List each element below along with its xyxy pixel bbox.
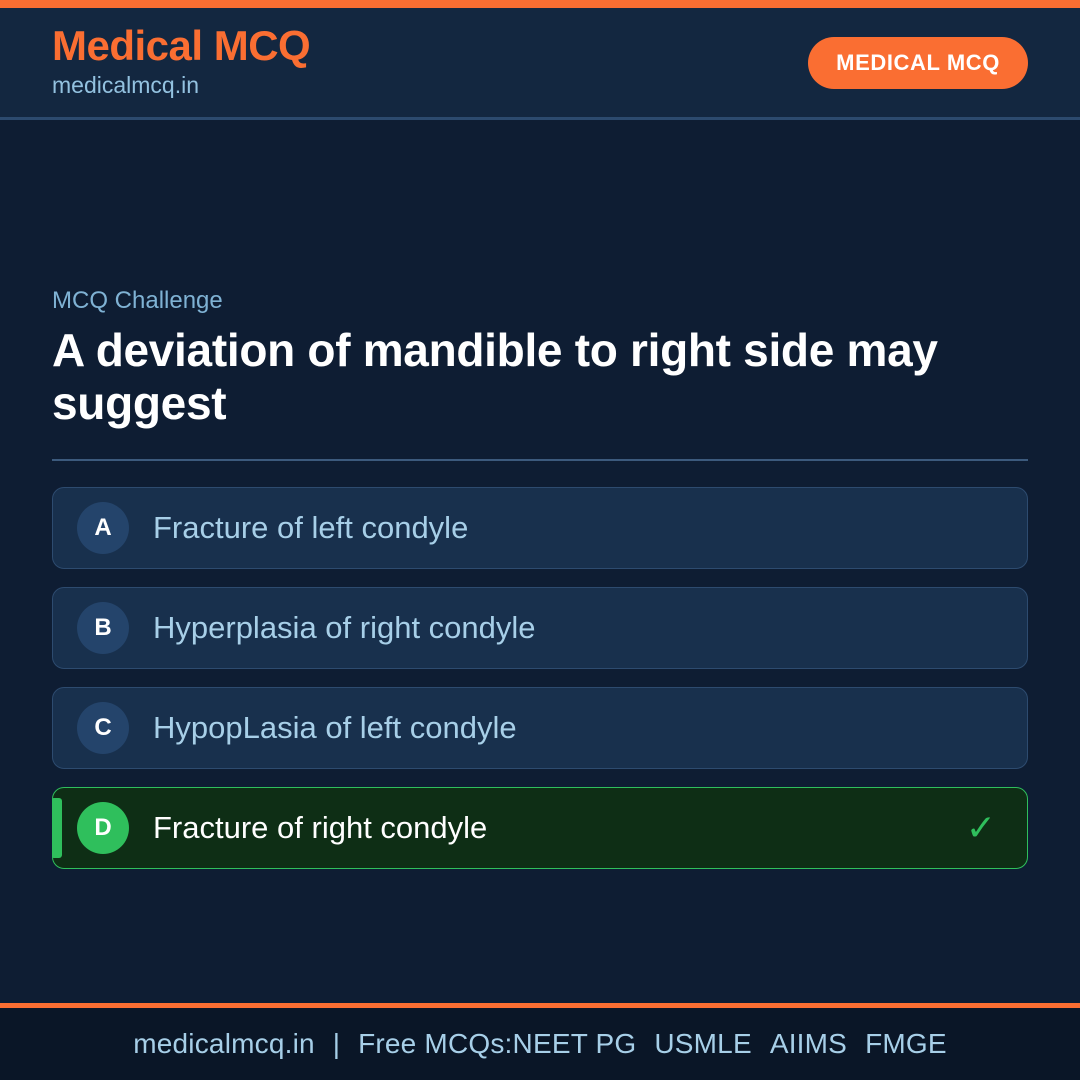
question-block: MCQ Challenge A deviation of mandible to… xyxy=(52,285,1028,429)
brand-block: Medical MCQ medicalmcq.in xyxy=(52,24,310,101)
main-content: MCQ Challenge A deviation of mandible to… xyxy=(0,120,1080,1003)
top-accent-bar xyxy=(0,0,1080,8)
question-divider xyxy=(52,459,1028,461)
footer-exam-item[interactable]: AIIMS xyxy=(770,1028,847,1060)
page-header: Medical MCQ medicalmcq.in MEDICAL MCQ xyxy=(0,8,1080,120)
check-icon: ✓ xyxy=(961,810,1001,846)
option-d[interactable]: DFracture of right condyle✓ xyxy=(52,787,1028,869)
option-c[interactable]: CHypopLasia of left condyle xyxy=(52,687,1028,769)
option-label: Fracture of right condyle xyxy=(153,809,961,846)
option-letter-badge: A xyxy=(77,502,129,554)
page-footer: medicalmcq.in | Free MCQs: NEET PGUSMLEA… xyxy=(0,1008,1080,1080)
options-list: AFracture of left condyleBHyperplasia of… xyxy=(52,487,1028,869)
footer-label: Free MCQs: xyxy=(358,1028,512,1060)
header-badge: MEDICAL MCQ xyxy=(808,37,1028,89)
footer-exam-item[interactable]: NEET PG xyxy=(513,1028,637,1060)
correct-accent-bar xyxy=(53,798,62,858)
option-letter-badge: C xyxy=(77,702,129,754)
option-b[interactable]: BHyperplasia of right condyle xyxy=(52,587,1028,669)
mcq-card: Medical MCQ medicalmcq.in MEDICAL MCQ MC… xyxy=(0,0,1080,1080)
option-letter-badge: B xyxy=(77,602,129,654)
option-label: Fracture of left condyle xyxy=(153,509,961,546)
brand-subtitle: medicalmcq.in xyxy=(52,70,310,101)
footer-exam-item[interactable]: USMLE xyxy=(654,1028,751,1060)
brand-title: Medical MCQ xyxy=(52,24,310,68)
option-label: HypopLasia of left condyle xyxy=(153,709,961,746)
footer-exam-item[interactable]: FMGE xyxy=(865,1028,947,1060)
eyebrow-label: MCQ Challenge xyxy=(52,285,1028,316)
option-label: Hyperplasia of right condyle xyxy=(153,609,961,646)
option-letter-badge: D xyxy=(77,802,129,854)
footer-site[interactable]: medicalmcq.in xyxy=(133,1028,315,1060)
footer-exam-list: NEET PGUSMLEAIIMSFMGE xyxy=(513,1028,947,1060)
option-a[interactable]: AFracture of left condyle xyxy=(52,487,1028,569)
question-text: A deviation of mandible to right side ma… xyxy=(52,324,1002,429)
footer-separator: | xyxy=(315,1028,358,1060)
